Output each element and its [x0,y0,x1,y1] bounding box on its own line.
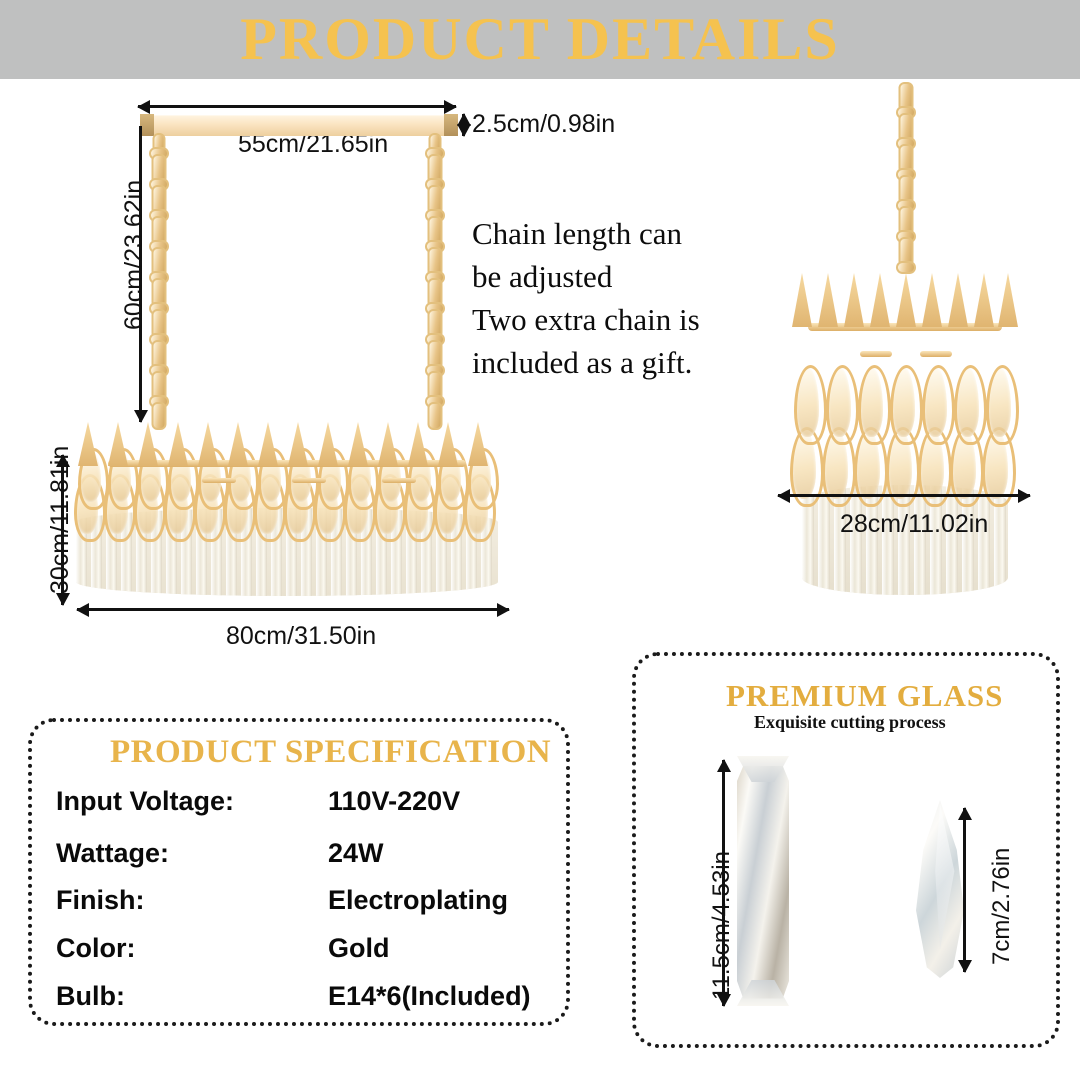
round-width-arrow [778,494,1030,497]
spec-row-input-voltage: Input Voltage: 110V-220V [56,786,234,817]
spec-row-wattage: Wattage: 24W [56,838,169,869]
spec-row-bulb: Bulb: E14*6(Included) [56,981,125,1012]
crystal-teardrop-height-arrow [963,808,966,972]
chain-note-line-2: be adjusted [472,255,772,298]
spec-key-bulb: Bulb: [56,981,125,1012]
round-width-label: 28cm/11.02in [840,510,988,539]
plate-thickness-arrow [462,114,465,136]
chain-length-label: 60cm/23.62in [120,180,149,330]
premium-glass-title: PREMIUM GLASS [726,678,1003,714]
chain-note-line-4: included as a gift. [472,341,772,384]
spec-key-input-voltage: Input Voltage: [56,786,234,817]
rect-height-label: 30cm/11.81in [46,446,75,594]
chain-right [425,133,445,423]
spec-key-finish: Finish: [56,885,145,916]
spec-row-color: Color: Gold [56,933,135,964]
chain-note: Chain length can be adjusted Two extra c… [472,212,772,384]
page-title: PRODUCT DETAILS [0,2,1080,77]
spec-value-finish: Electroplating [328,885,508,916]
spec-key-color: Color: [56,933,135,964]
chandelier-round [770,255,1040,595]
chandelier-rectangular [62,420,512,600]
chain-note-line-1: Chain length can [472,212,772,255]
chain-round-chandelier [896,82,916,282]
spec-value-wattage: 24W [328,838,384,869]
mounting-plate [140,115,458,136]
plate-thickness-label: 2.5cm/0.98in [472,110,615,139]
chain-left [149,133,169,423]
spec-panel-title: PRODUCT SPECIFICATION [110,734,551,771]
rect-width-label: 80cm/31.50in [226,622,376,651]
crystal-bar-size-label: 11.5cm/4.53in [708,851,736,1000]
chain-note-line-3: Two extra chain is [472,298,772,341]
crystal-teardrop-size-label: 7cm/2.76in [988,848,1016,965]
spec-value-input-voltage: 110V-220V [328,786,460,817]
premium-glass-subtitle: Exquisite cutting process [754,712,946,733]
spec-value-bulb: E14*6(Included) [328,981,531,1012]
crystal-bar-image [737,756,789,1006]
spec-value-color: Gold [328,933,390,964]
spec-row-finish: Finish: Electroplating [56,885,145,916]
rect-width-arrow [77,608,509,611]
spec-key-wattage: Wattage: [56,838,169,869]
plate-width-arrow [138,105,456,108]
